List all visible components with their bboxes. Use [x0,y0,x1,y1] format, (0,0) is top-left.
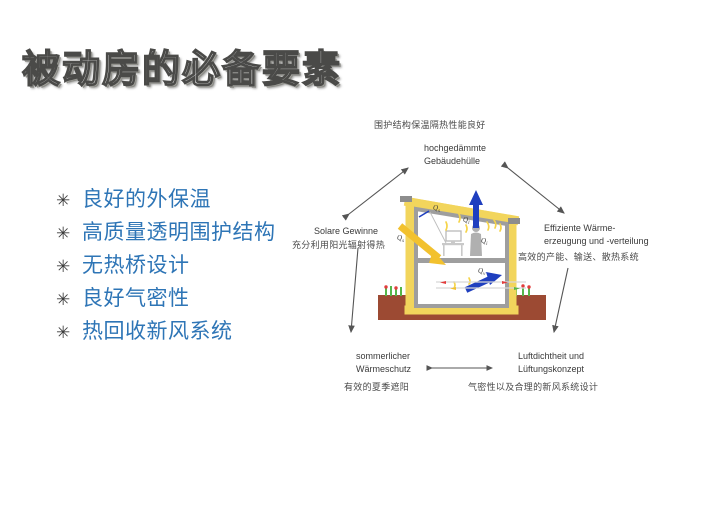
plants-left [384,285,402,296]
label-top-cn: 围护结构保温隔热性能良好 [374,120,486,133]
bullet-label: 热回收新风系统 [82,315,233,345]
label-right-de-line2: erzeugung und -verteilung [544,235,649,248]
svg-text:Qs: Qs [397,234,404,244]
connector-arrow-bottom-right [554,268,568,332]
label-bottom-left-de-line2: Wärmeschutz [356,363,411,376]
bullet-label: 无热桥设计 [82,249,190,279]
connector-arrow-top-left [349,168,408,214]
bullet-label: 良好气密性 [82,282,190,312]
bullet-label: 高质量透明围护结构 [82,216,276,246]
bullet-marker-icon: ✳ [56,225,82,242]
label-left-cn: 充分利用阳光辐射得热 [292,240,385,253]
roof-eave-right [508,218,520,224]
label-bottom-right-de-line1: Luftdichtheit und [518,350,584,363]
bullet-label: 良好的外保温 [82,183,211,213]
label-bottom-right-de: Luftdichtheit und Lüftungskonzept [518,350,584,375]
label-bottom-left-cn: 有效的夏季遮阳 [344,382,409,395]
label-left-de: Solare Gewinne [314,225,378,238]
slide-canvas: 被动房的必备要素 ✳ 良好的外保温 ✳ 高质量透明围护结构 ✳ 无热桥设计 ✳ … [0,0,703,527]
label-right-cn: 高效的产能、输送、散热系统 [518,252,639,265]
bullet-marker-icon: ✳ [56,291,82,308]
connector-arrow-top-right [508,168,564,213]
connector-arrow-bottom-left [351,248,358,332]
label-bottom-left-de: sommerlicher Wärmeschutz [356,350,411,375]
roof-eave-left [400,196,412,202]
label-bottom-right-cn: 气密性以及合理的新风系统设计 [468,382,598,395]
label-right-de-line1: Effiziente Wärme- [544,222,649,235]
intermediate-floor-slab [415,258,509,263]
label-top-de-line2: Gebäudehülle [424,155,486,168]
passive-house-diagram: Qs Qs Ql Qi Qv 围护结构保温隔热性能良好 hochgedämmte… [296,110,703,410]
label-right-de: Effiziente Wärme- erzeugung und -verteil… [544,222,649,247]
bullet-marker-icon: ✳ [56,258,82,275]
bullet-marker-icon: ✳ [56,324,82,341]
page-title: 被动房的必备要素 [22,38,342,93]
label-top-de: hochgedämmte Gebäudehülle [424,142,486,167]
label-top-de-line1: hochgedämmte [424,142,486,155]
label-bottom-right-de-line2: Lüftungskonzept [518,363,584,376]
label-bottom-left-de-line1: sommerlicher [356,350,411,363]
bullet-marker-icon: ✳ [56,192,82,209]
structural-wall [416,209,507,306]
